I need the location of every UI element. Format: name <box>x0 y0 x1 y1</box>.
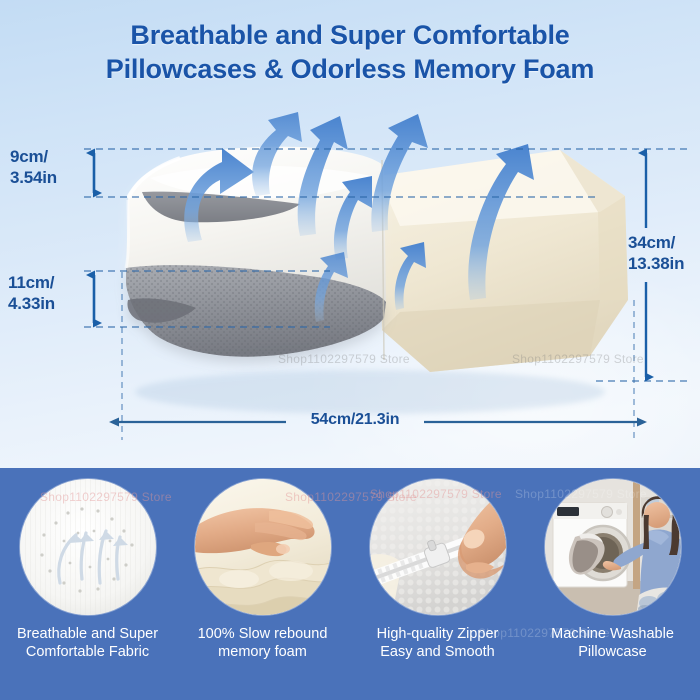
page-title: Breathable and Super Comfortable Pillowc… <box>0 18 700 86</box>
zipper-pull-icon <box>370 479 506 615</box>
product-infographic: Breathable and Super Comfortable Pillowc… <box>0 0 700 700</box>
feature-image-zipper <box>370 479 506 615</box>
feature-caption-fabric: Breathable and Super Comfortable Fabric <box>4 625 172 661</box>
feature-item-washable[interactable]: Machine Washable Pillowcase <box>525 468 700 700</box>
hand-pressing-foam-icon <box>195 479 331 615</box>
title-line-2: Pillowcases & Odorless Memory Foam <box>0 52 700 86</box>
feature-caption-washable: Machine Washable Pillowcase <box>529 625 697 661</box>
title-line-1: Breathable and Super Comfortable <box>130 20 569 50</box>
feature-image-foam <box>195 479 331 615</box>
feature-item-foam[interactable]: 100% Slow rebound memory foam <box>175 468 350 700</box>
feature-item-fabric[interactable]: Breathable and Super Comfortable Fabric <box>0 468 175 700</box>
feature-caption-foam: 100% Slow rebound memory foam <box>179 625 347 661</box>
feature-image-fabric <box>20 479 156 615</box>
feature-panel: Breathable and Super Comfortable Fabric <box>0 468 700 700</box>
feature-row: Breathable and Super Comfortable Fabric <box>0 468 700 700</box>
washing-machine-icon <box>545 479 681 615</box>
feature-image-washable <box>545 479 681 615</box>
fabric-airflow-icon <box>20 479 156 615</box>
feature-caption-zipper: High-quality Zipper Easy and Smooth <box>354 625 522 661</box>
feature-item-zipper[interactable]: High-quality Zipper Easy and Smooth <box>350 468 525 700</box>
